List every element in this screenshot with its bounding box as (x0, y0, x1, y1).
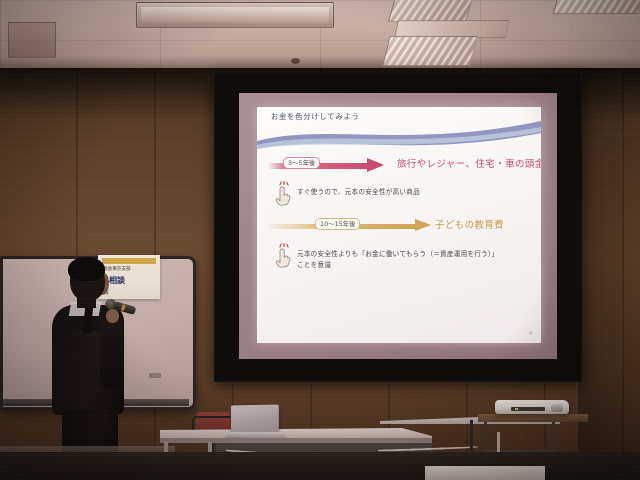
presenter-hair (68, 257, 105, 281)
slide-header-wave (257, 119, 541, 149)
year-chip-short-term: 3～5年後 (283, 157, 320, 169)
whiteboard-magnet (149, 373, 161, 378)
louver-icon (389, 0, 472, 21)
ceiling-air-vent (136, 2, 334, 28)
headline-short-term: 旅行やレジャー、住宅・車の頭金 (397, 156, 541, 170)
note-short-term: すぐ使うので、元本の安全性が高い商品 (297, 186, 420, 196)
note-mid-term-line2: ことを意識 (297, 259, 331, 269)
arrow-head-icon (367, 158, 384, 172)
year-chip-mid-term: 10～15年後 (315, 218, 360, 230)
arrow-head-icon (415, 219, 431, 231)
projection-surface: お金を色分けしてみよう 3～5年後 旅行やレジャー、住宅・車の頭金 (239, 93, 557, 359)
ceiling-light-fixture (388, 0, 474, 22)
louver-icon (384, 37, 477, 65)
apple-logo-icon (252, 416, 261, 426)
floor-white-object (425, 466, 545, 480)
ceiling (0, 0, 640, 72)
desk-edge (160, 438, 432, 443)
seminar-room-photo: お金を色分けしてみよう 3～5年後 旅行やレジャー、住宅・車の頭金 (0, 0, 640, 480)
projection-screen: お金を色分けしてみよう 3～5年後 旅行やレジャー、住宅・車の頭金 (214, 72, 582, 382)
laptop-base (224, 432, 286, 438)
presenter-arm (100, 317, 122, 389)
slide-title: お金を色分けしてみよう (271, 112, 360, 122)
slide-page-number: 4 (529, 331, 532, 337)
pointing-hand-icon (275, 243, 293, 269)
louver-icon (554, 0, 640, 13)
ceiling-access-panel (8, 22, 56, 58)
laptop-lid (231, 404, 279, 433)
projector-status-led (515, 408, 518, 410)
headline-mid-term: 子どもの教育費 (435, 217, 504, 231)
smoke-detector-icon (291, 58, 300, 64)
presentation-slide: お金を色分けしてみよう 3～5年後 旅行やレジャー、住宅・車の頭金 (257, 107, 541, 343)
pointing-hand-icon (275, 181, 293, 207)
projector[interactable] (495, 398, 569, 418)
laptop[interactable] (224, 405, 284, 439)
ceiling-light-fixture (553, 0, 640, 14)
projector-lens-icon (551, 404, 563, 412)
note-mid-term-line1: 元本の安全性よりも「お金に働いてもらう（＝資産運用を行う）」 (297, 248, 498, 258)
ceiling-light-fixture (382, 36, 477, 66)
